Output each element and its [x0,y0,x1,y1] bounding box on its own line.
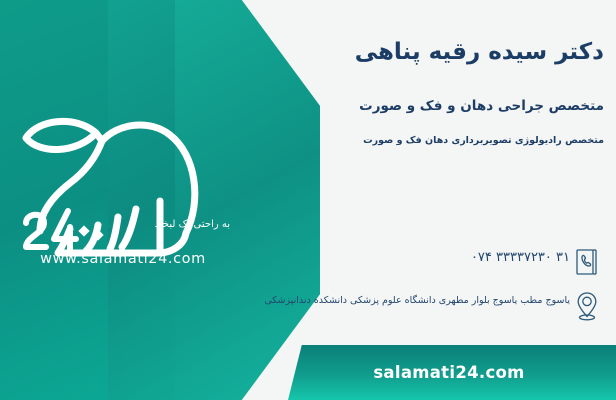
card-content: دکتر سیده رقیه پناهی متخصص جراحی دهان و … [274,0,604,400]
doctor-specialty-primary: متخصص جراحی دهان و فک و صورت [274,98,604,114]
business-card: به راحتی یک لبخند www.salamati24.com دکت… [0,0,616,400]
footer-bar[interactable]: salamati24.com [288,345,616,400]
address-text: یاسوج مطب یاسوج بلوار مطهری دانشگاه علوم… [259,288,570,310]
salamati24-logo: به راحتی یک لبخند www.salamati24.com [10,105,230,280]
doctor-specialty-secondary: متخصص رادیولوژی تصویربرداری دهان فک و صو… [274,132,604,150]
logo-url: www.salamati24.com [18,251,228,267]
doctor-name: دکتر سیده رقیه پناهی [274,38,604,67]
footer-website: salamati24.com [288,345,616,400]
logo-tagline: به راحتی یک لبخند [155,219,230,230]
contact-row-phone[interactable]: ۳۱ ۳۳۳۳۷۲۳۰ ۰۷۴ [274,246,604,288]
phone-book-icon [570,246,604,288]
map-pin-icon [570,288,604,330]
phone-number: ۳۱ ۳۳۳۳۷۲۳۰ ۰۷۴ [274,246,570,265]
contact-row-address[interactable]: یاسوج مطب یاسوج بلوار مطهری دانشگاه علوم… [259,288,604,330]
